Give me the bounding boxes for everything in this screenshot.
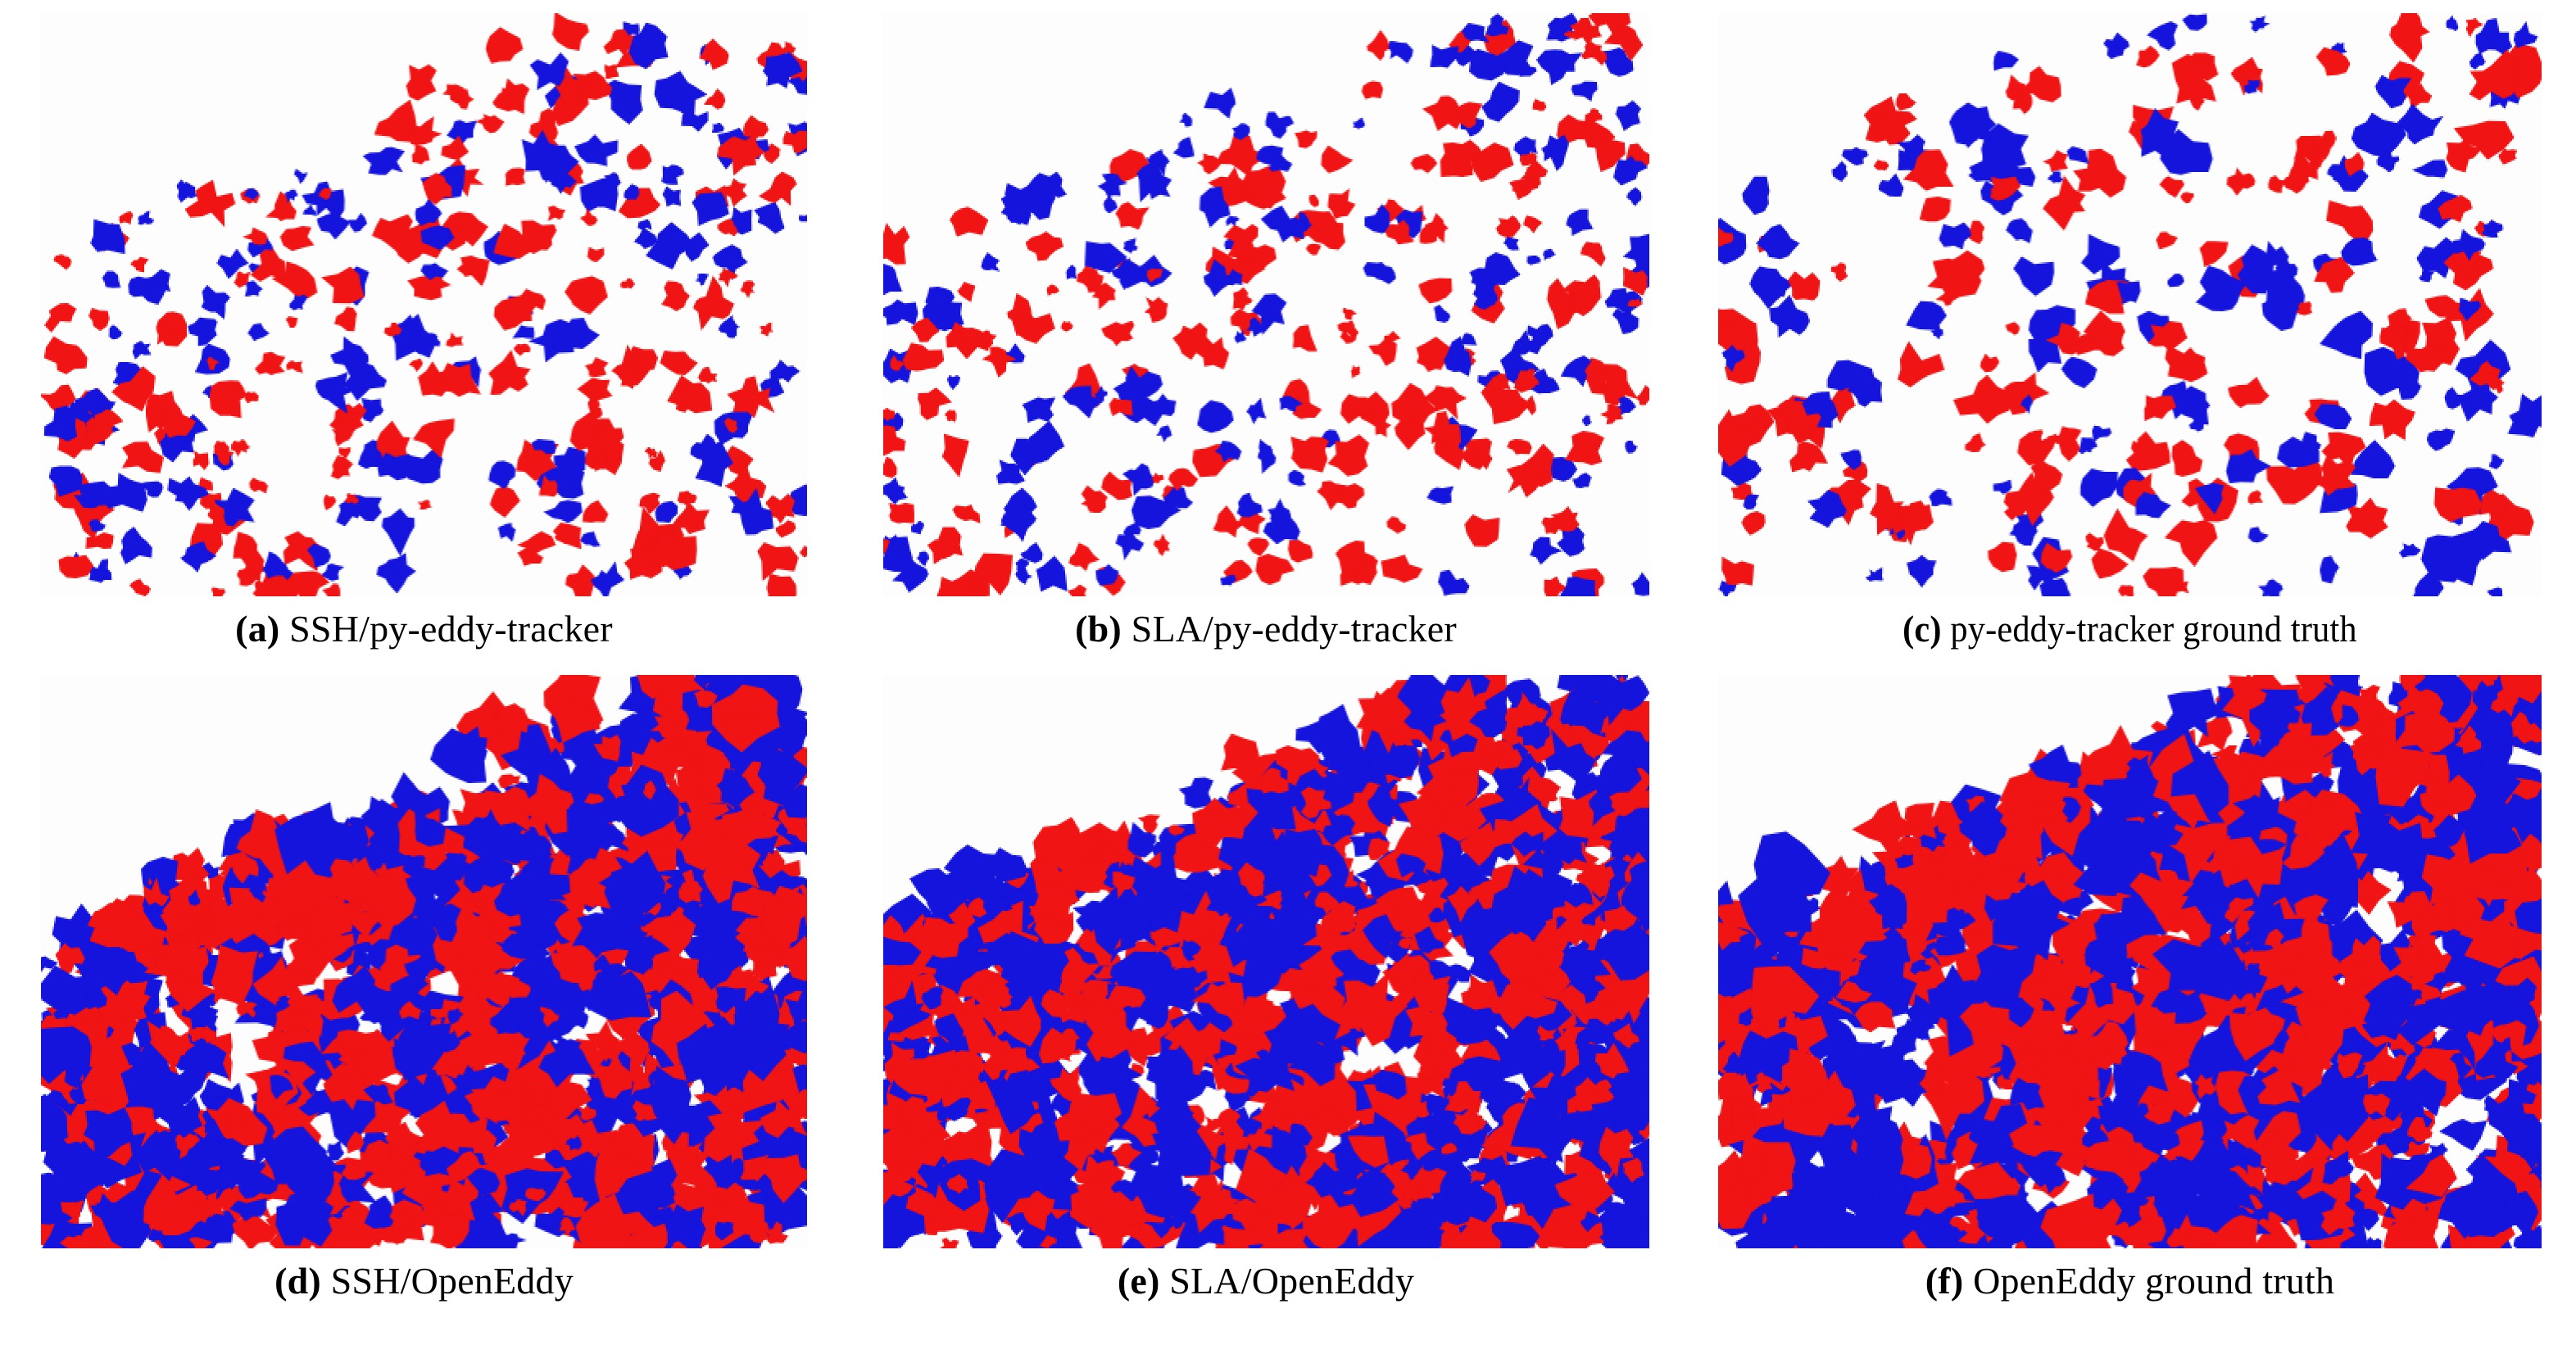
panel-cell-f: (f) OpenEddy ground truth (1684, 665, 2576, 1354)
panel-cell-c: (c) py-eddy-tracker ground truth (1684, 0, 2576, 665)
eddy-comparison-figure: (a) SSH/py-eddy-tracker (b) SLA/py-eddy-… (0, 0, 2576, 1354)
eddy-map-a (41, 13, 807, 596)
panel-caption-text-e: SLA/OpenEddy (1169, 1260, 1414, 1302)
eddy-map-canvas-d (41, 675, 807, 1248)
panel-caption-text-c: py-eddy-tracker ground truth (1950, 608, 2356, 650)
eddy-map-f (1718, 675, 2542, 1248)
panel-caption-f: (f) OpenEddy ground truth (1925, 1260, 2334, 1302)
eddy-map-canvas-e (883, 675, 1649, 1248)
eddy-map-c (1718, 13, 2542, 596)
eddy-map-canvas-b (883, 13, 1649, 596)
figure-row-bottom: (d) SSH/OpenEddy (e) SLA/OpenEddy (f) Op… (0, 665, 2576, 1354)
panel-label-b: (b) (1075, 608, 1122, 650)
figure-row-top: (a) SSH/py-eddy-tracker (b) SLA/py-eddy-… (0, 0, 2576, 665)
panel-cell-e: (e) SLA/OpenEddy (848, 665, 1684, 1354)
eddy-map-canvas-c (1718, 13, 2542, 596)
panel-cell-b: (b) SLA/py-eddy-tracker (848, 0, 1684, 665)
panel-caption-b: (b) SLA/py-eddy-tracker (1075, 608, 1457, 650)
eddy-map-b (883, 13, 1649, 596)
panel-caption-d: (d) SSH/OpenEddy (274, 1260, 574, 1302)
panel-caption-text-a: SSH/py-eddy-tracker (289, 608, 613, 650)
panel-cell-a: (a) SSH/py-eddy-tracker (0, 0, 848, 665)
panel-label-d: (d) (274, 1260, 321, 1302)
panel-caption-text-f: OpenEddy ground truth (1973, 1260, 2334, 1302)
eddy-map-d (41, 675, 807, 1248)
panel-label-e: (e) (1118, 1260, 1160, 1302)
panel-cell-d: (d) SSH/OpenEddy (0, 665, 848, 1354)
panel-label-f: (f) (1925, 1260, 1964, 1302)
panel-caption-text-d: SSH/OpenEddy (331, 1260, 574, 1302)
panel-caption-e: (e) SLA/OpenEddy (1118, 1260, 1414, 1302)
eddy-map-e (883, 675, 1649, 1248)
panel-caption-text-b: SLA/py-eddy-tracker (1132, 608, 1457, 650)
panel-caption-a: (a) SSH/py-eddy-tracker (235, 608, 613, 650)
panel-caption-c: (c) py-eddy-tracker ground truth (1903, 608, 2357, 650)
panel-label-c: (c) (1903, 608, 1942, 650)
eddy-map-canvas-a (41, 13, 807, 596)
eddy-map-canvas-f (1718, 675, 2542, 1248)
panel-label-a: (a) (235, 608, 279, 650)
